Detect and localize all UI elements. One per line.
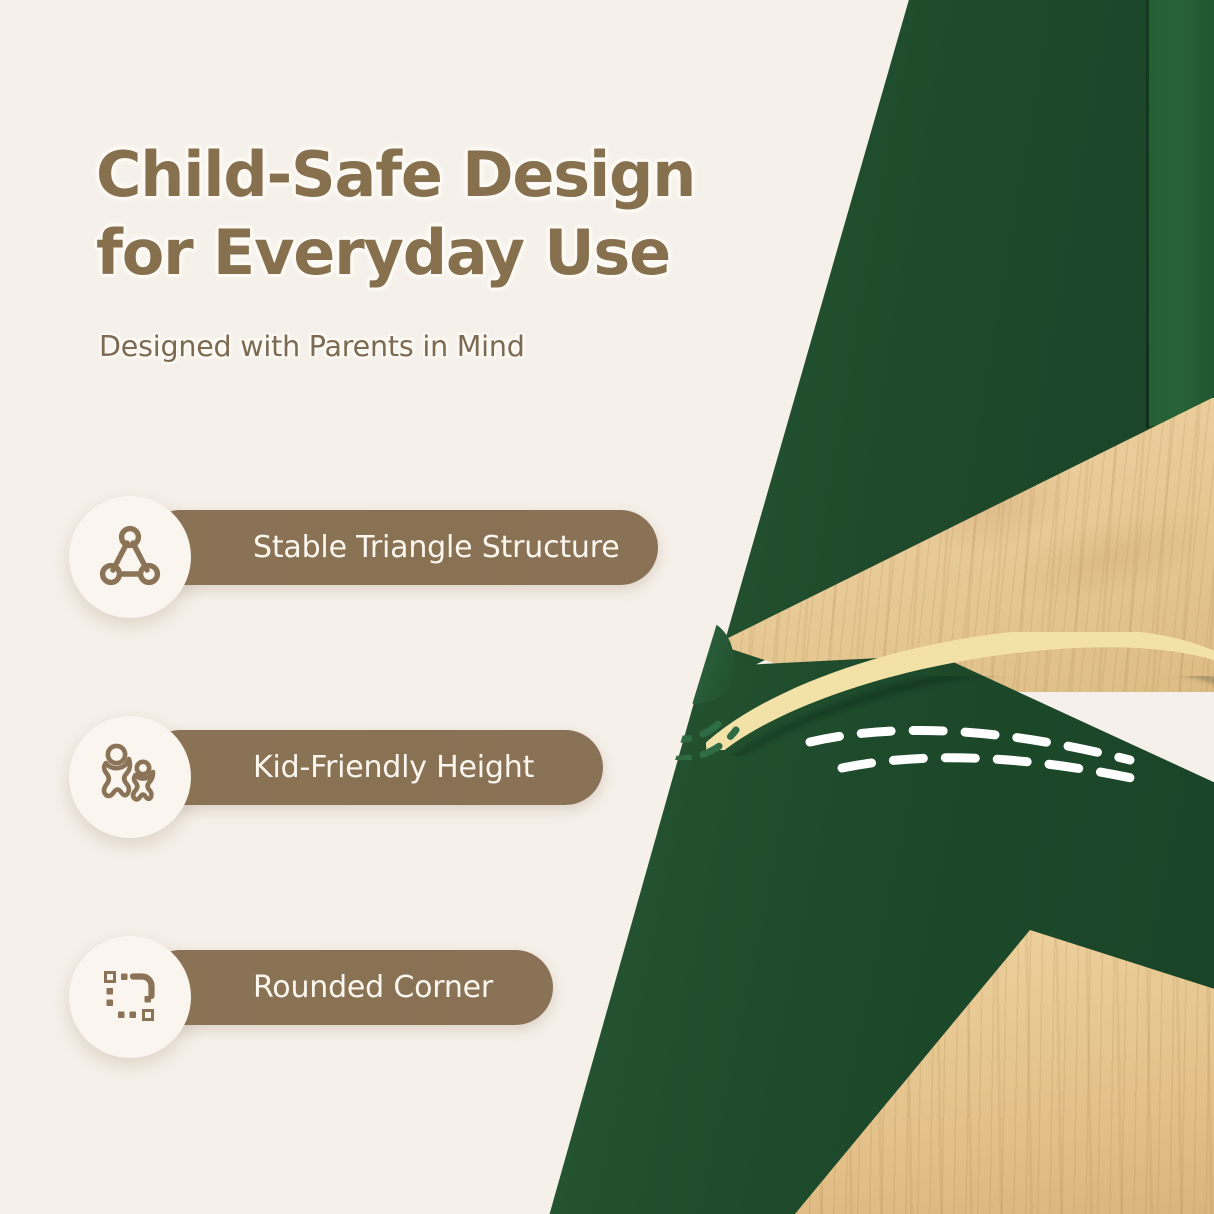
triangle-nodes-icon (94, 521, 166, 593)
feature-icon-badge (69, 496, 191, 618)
page-subtitle: Designed with Parents in Mind (99, 330, 525, 363)
panel-corner-seam (1146, 0, 1149, 428)
product-infographic-poster: Child-Safe Design for Everyday Use Desig… (0, 0, 1214, 1214)
feature-item-rounded-corner[interactable]: Rounded Corner (69, 927, 191, 1067)
feature-label: Rounded Corner (253, 970, 493, 1005)
feature-pill[interactable]: Kid-Friendly Height (143, 730, 603, 805)
page-title: Child-Safe Design for Everyday Use (96, 136, 716, 292)
feature-icon-badge (69, 716, 191, 838)
rounded-corner-icon (96, 963, 164, 1031)
rounded-corner-arc-annotation (600, 600, 750, 760)
two-children-icon (93, 740, 167, 814)
feature-pill[interactable]: Rounded Corner (143, 950, 553, 1025)
feature-label: Kid-Friendly Height (253, 750, 534, 785)
feature-list: Stable Triangle Structure Kid- (69, 487, 191, 1067)
feature-item-stable-triangle-structure[interactable]: Stable Triangle Structure (69, 487, 191, 627)
feature-label: Stable Triangle Structure (253, 530, 619, 565)
feature-pill[interactable]: Stable Triangle Structure (143, 510, 658, 585)
green-side-panel (1148, 0, 1214, 426)
feature-item-kid-friendly-height[interactable]: Kid-Friendly Height (69, 707, 191, 847)
feature-icon-badge (69, 936, 191, 1058)
headline-line-1: Child-Safe Design (96, 136, 716, 214)
curved-edge-dashes-annotation (800, 690, 1200, 850)
headline-line-2: for Everyday Use (96, 214, 716, 292)
